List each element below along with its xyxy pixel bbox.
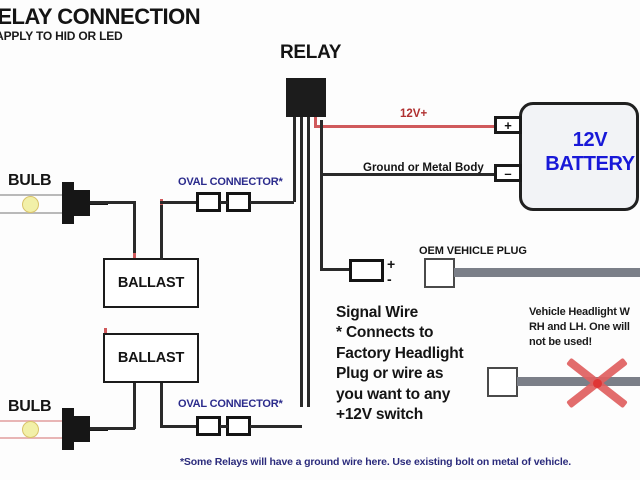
relay-pin-2 [300,117,303,407]
signal-note-line-1: Signal Wire [336,303,464,323]
wiring-diagram: RELAY CONNECTION N APPLY TO HID OR LED R… [0,0,640,480]
oem-vehicle-plug-box [424,258,455,288]
oval-connector-top-bridge [220,201,228,204]
twelve-volt-plus-label: 12V+ [400,108,427,120]
bulb-top-lead-horizontal [90,201,135,204]
signal-note-line-6: +12V switch [336,405,464,425]
bulb-bottom-base [62,408,74,450]
vehicle-note-line-3: not be used! [529,335,640,350]
unused-headlight-plug-box [487,367,518,397]
battery-word: BATTERY [541,153,639,177]
ballast-bottom-out-vertical [160,383,163,427]
signal-wire-horizontal [320,268,352,271]
ballast-bottom-out-horizontal [160,425,198,428]
signal-connector-box [349,259,384,282]
relay-label: RELAY [280,42,341,64]
bulb-top-tube-upper [0,194,68,196]
bulb-top-label: BULB [8,172,51,190]
ballast-top: BALLAST [103,258,199,308]
oval-connector-bottom-left [196,416,221,436]
bulb-bottom-lead-horizontal [90,427,135,430]
relay-pin-3 [307,117,310,407]
battery-label: 12V BATTERY [541,129,639,176]
x-mark-center-dot-icon [593,379,602,388]
vehicle-note-line-2: RH and LH. One will [529,320,640,335]
battery-positive-terminal: + [494,116,522,134]
relay-pin-1 [293,117,296,202]
battery-voltage: 12V [541,129,639,153]
oval-connector-bottom-bridge [220,425,228,428]
oem-vehicle-plug-label: OEM VEHICLE PLUG [419,245,527,257]
signal-wire-note: Signal Wire * Connects to Factory Headli… [336,303,464,426]
bulb-top-filament-icon [22,196,39,213]
vehicle-note-line-1: Vehicle Headlight W [529,305,640,320]
oval-connector-top-left [196,192,221,212]
oval-connector-top-label: OVAL CONNECTOR* [178,176,283,188]
bulb-top-lead-vertical [133,201,136,259]
bulb-bottom-label: BULB [8,398,51,416]
oval-connector-bottom-label: OVAL CONNECTOR* [178,398,283,410]
signal-note-line-3: Factory Headlight [336,344,464,364]
bulb-top-cap [74,190,90,216]
battery-negative-terminal: – [494,164,522,182]
oval-connector-bottom-out [250,425,302,428]
positive-wire-horizontal [314,125,496,128]
ballast-top-out-vertical [160,202,163,260]
signal-connector-plus: + [387,256,395,272]
bulb-bottom-filament-icon [22,421,39,438]
footnote-text: *Some Relays will have a ground wire her… [180,456,571,468]
bulb-bottom-lead-vertical [133,383,136,429]
signal-wire-vertical [320,175,323,271]
relay-body [286,78,326,117]
ground-wire-vertical [320,120,323,175]
signal-note-line-2: * Connects to [336,323,464,343]
oval-connector-top-right [226,192,251,212]
signal-note-line-4: Plug or wire as [336,364,464,384]
oval-connector-top-out [250,201,294,204]
ground-wire-horizontal [320,173,496,176]
page-title: RELAY CONNECTION [0,4,200,30]
vehicle-headlight-note: Vehicle Headlight W RH and LH. One will … [529,305,640,351]
ballast-bottom: BALLAST [103,333,199,383]
oem-vehicle-harness [454,268,640,277]
bulb-top-base [62,182,74,224]
signal-connector-minus: - [387,271,392,287]
bulb-bottom-cap [74,416,90,442]
ballast-top-out-horizontal [160,201,198,204]
oval-connector-bottom-right [226,416,251,436]
signal-note-line-5: you want to any [336,385,464,405]
page-subtitle: N APPLY TO HID OR LED [0,29,123,43]
